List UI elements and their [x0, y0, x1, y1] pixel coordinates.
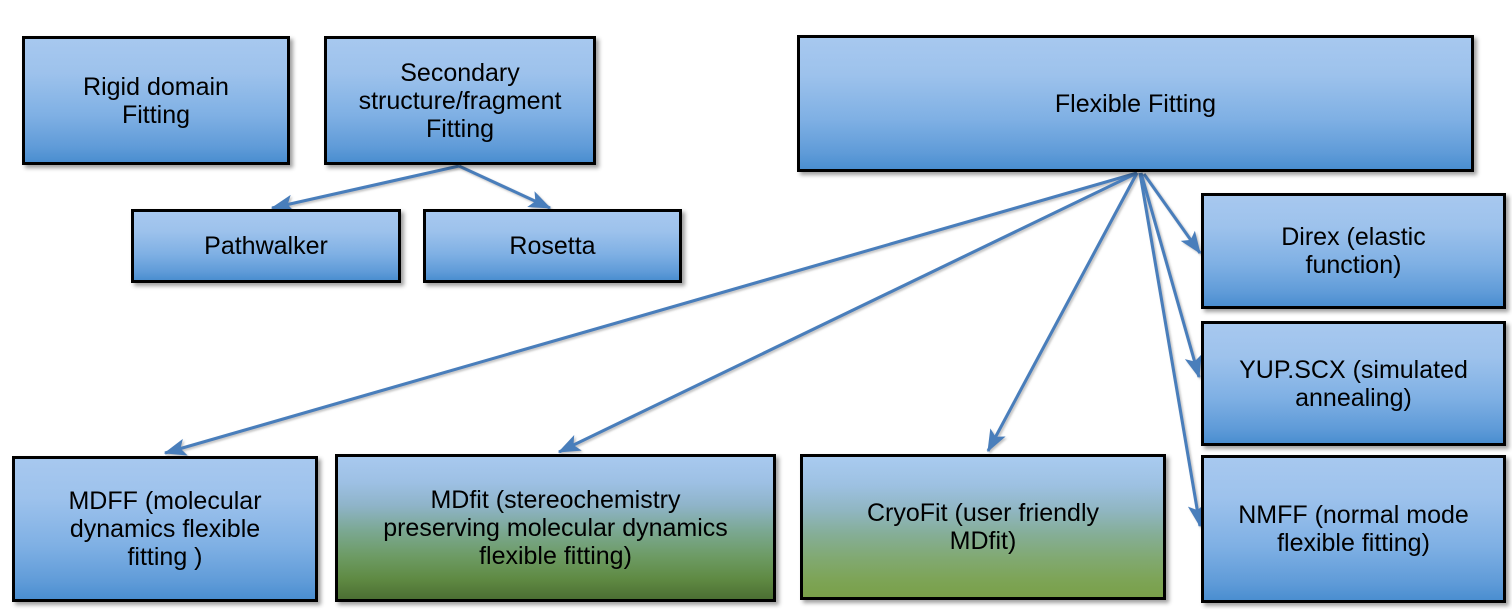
node-direx[interactable]: Direx (elastic function)	[1201, 193, 1506, 309]
node-cryofit[interactable]: CryoFit (user friendly MDfit)	[800, 454, 1166, 600]
node-label-direx: Direx (elastic function)	[1210, 223, 1497, 279]
node-rigid-domain-fitting[interactable]: Rigid domain Fitting	[22, 36, 290, 165]
node-secondary-structure-fragment-fitting[interactable]: Secondary structure/fragment Fitting	[324, 36, 596, 165]
node-label-cryofit: CryoFit (user friendly MDfit)	[809, 499, 1157, 555]
node-label-mdff: MDFF (molecular dynamics flexible fittin…	[21, 487, 309, 571]
node-label-pathwalker: Pathwalker	[140, 232, 392, 260]
connector-flexible-to-yupscx	[1141, 173, 1199, 377]
node-rosetta[interactable]: Rosetta	[423, 209, 682, 283]
connector-secondary-to-pathwalker	[272, 166, 459, 208]
node-nmff[interactable]: NMFF (normal mode flexible fitting)	[1201, 455, 1506, 603]
node-label-mdfit: MDfit (stereochemistry preserving molecu…	[344, 486, 767, 570]
node-flexible-fitting[interactable]: Flexible Fitting	[797, 35, 1474, 172]
node-pathwalker[interactable]: Pathwalker	[131, 209, 401, 283]
node-yup-scx[interactable]: YUP.SCX (simulated annealing)	[1201, 321, 1506, 446]
node-mdfit[interactable]: MDfit (stereochemistry preserving molecu…	[335, 454, 776, 602]
node-label-flexible-fitting: Flexible Fitting	[806, 90, 1465, 118]
node-label-rosetta: Rosetta	[432, 232, 673, 260]
node-label-nmff: NMFF (normal mode flexible fitting)	[1210, 501, 1497, 557]
node-label-rigid-domain-fitting: Rigid domain Fitting	[31, 73, 281, 129]
connector-secondary-to-rosetta	[459, 166, 550, 208]
diagram-canvas: Rigid domain FittingSecondary structure/…	[0, 0, 1512, 610]
connector-flexible-to-direx	[1144, 174, 1200, 253]
node-label-secondary-structure-fragment-fitting: Secondary structure/fragment Fitting	[333, 59, 587, 143]
node-mdff[interactable]: MDFF (molecular dynamics flexible fittin…	[12, 456, 318, 602]
node-label-yup-scx: YUP.SCX (simulated annealing)	[1210, 356, 1497, 412]
connector-flexible-to-cryofit	[988, 173, 1137, 451]
